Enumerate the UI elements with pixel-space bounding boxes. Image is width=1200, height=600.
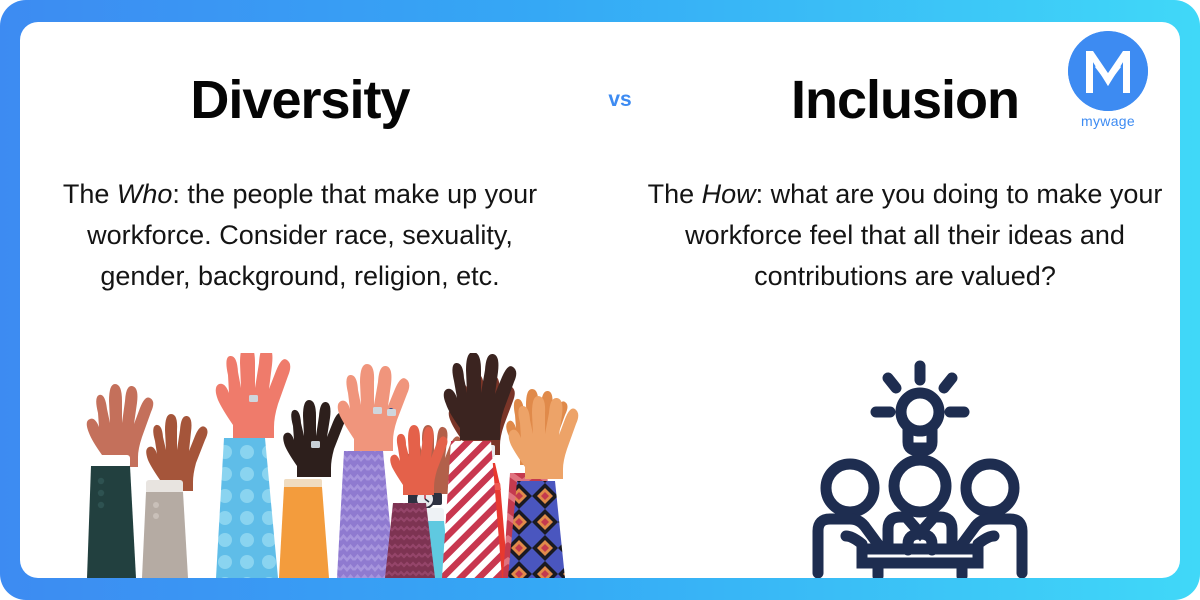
page-title-diversity: Diversity: [20, 73, 580, 127]
inclusion-desc-rest: : what are you doing to make your workfo…: [685, 179, 1162, 291]
hand-3: [216, 353, 291, 578]
raised-hands-graphic-right: [350, 353, 600, 578]
brand-logo: mywage: [1054, 31, 1162, 129]
inclusion-description: The How: what are you doing to make your…: [645, 174, 1165, 297]
team-heads-icon: [826, 460, 1014, 512]
headings-row: Diversity vs Inclusion: [20, 22, 1180, 172]
inclusion-desc-prefix: The: [648, 179, 702, 209]
lightbulb-team-icon: [800, 358, 1040, 578]
hand-4: [279, 400, 346, 578]
inclusion-illustration: [800, 358, 1040, 578]
mywage-monogram-icon: [1068, 31, 1148, 111]
brand-wordmark: mywage: [1054, 113, 1162, 129]
diversity-desc-emphasis: Who: [117, 179, 173, 209]
content-card: Diversity vs Inclusion myw: [20, 22, 1180, 578]
conference-table-icon: [862, 549, 978, 576]
hand-2: [142, 414, 208, 578]
diversity-description: The Who: the people that make up your wo…: [50, 174, 550, 297]
raised-hands-illustration-right: [350, 353, 600, 578]
lightbulb-icon: [901, 393, 939, 451]
hand-12: [508, 396, 578, 578]
inclusion-desc-emphasis: How: [702, 179, 756, 209]
diversity-desc-prefix: The: [63, 179, 117, 209]
hand-10: [385, 425, 448, 578]
infographic-frame: Diversity vs Inclusion myw: [0, 0, 1200, 600]
hand-1: [87, 384, 154, 578]
hand-11: [442, 353, 516, 578]
